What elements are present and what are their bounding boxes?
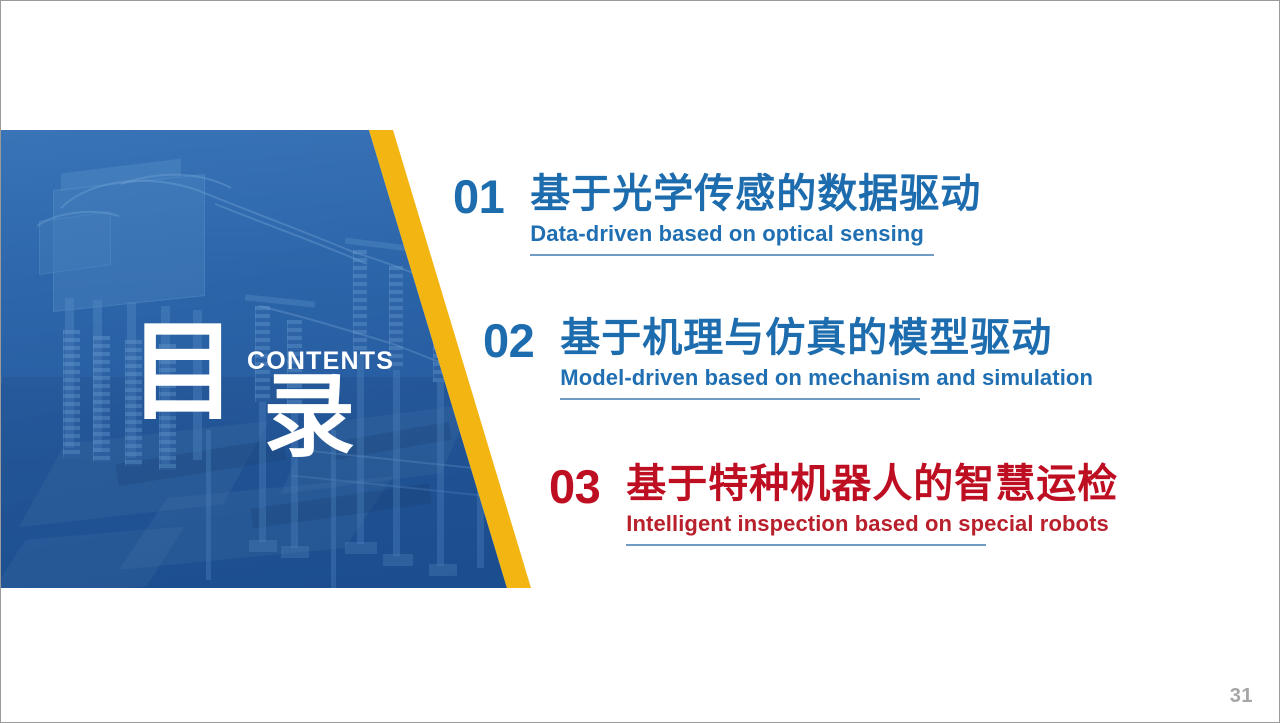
contents-item-01[interactable]: 01 基于光学传感的数据驱动 Data-driven based on opti… (453, 173, 981, 256)
contents-item-en-subtitle: Model-driven based on mechanism and simu… (560, 365, 1093, 396)
contents-item-en-subtitle: Data-driven based on optical sensing (530, 221, 924, 252)
contents-item-number: 02 (483, 317, 534, 364)
contents-item-cn-title: 基于特种机器人的智慧运检 (626, 463, 1118, 506)
contents-item-cn-title: 基于机理与仿真的模型驱动 (560, 317, 1093, 360)
page-number: 31 (1230, 685, 1253, 708)
contents-item-cn-title: 基于光学传感的数据驱动 (530, 173, 981, 216)
presentation-slide: 目 CONTENTS 录 01 基于光学传感的数据驱动 Data-driven … (0, 0, 1280, 723)
contents-item-text-group: 基于特种机器人的智慧运检 Intelligent inspection base… (626, 463, 1118, 546)
contents-list: 01 基于光学传感的数据驱动 Data-driven based on opti… (1, 1, 1280, 723)
contents-item-number: 01 (453, 173, 504, 220)
contents-item-text-group: 基于光学传感的数据驱动 Data-driven based on optical… (530, 173, 981, 256)
contents-item-text-group: 基于机理与仿真的模型驱动 Model-driven based on mecha… (560, 317, 1093, 400)
contents-item-02[interactable]: 02 基于机理与仿真的模型驱动 Model-driven based on me… (483, 317, 1093, 400)
contents-item-en-subtitle: Intelligent inspection based on special … (626, 511, 1109, 542)
contents-item-03[interactable]: 03 基于特种机器人的智慧运检 Intelligent inspection b… (549, 463, 1118, 546)
contents-item-underline (560, 398, 920, 400)
contents-item-underline (626, 544, 986, 546)
contents-item-underline (530, 254, 934, 256)
contents-item-number: 03 (549, 463, 600, 510)
